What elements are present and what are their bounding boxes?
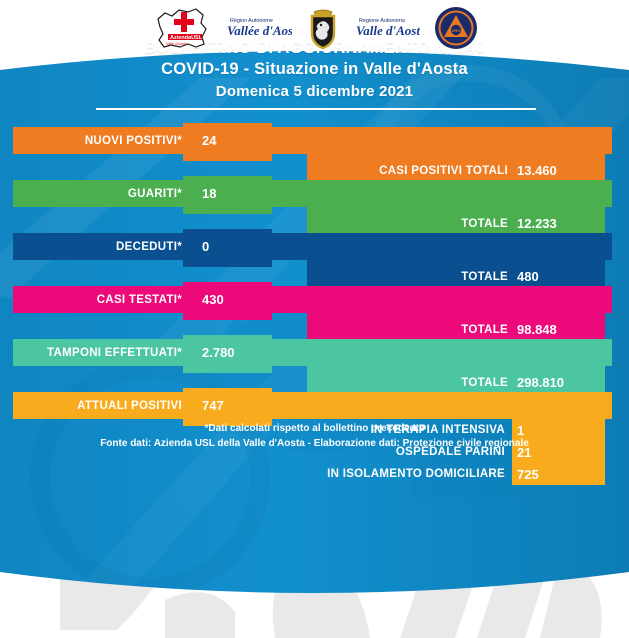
header-line-3: Domenica 5 dicembre 2021 [0,80,629,103]
stat-label: ATTUALI POSITIVI [77,392,182,419]
svg-text:Vallée d'Aoste: Vallée d'Aoste [227,23,292,38]
svg-text:Valle d'Aosta: Valle d'Aosta [356,23,420,38]
stat-row-nuovi-positivi: NUOVI POSITIVI* 24 CASI POSITIVI TOTALI … [0,127,629,180]
stat-value: 2.780 [202,339,235,366]
value-block [183,229,272,267]
stat-value: 24 [202,127,216,154]
breakdown-value-isolamento-domiciliare: 725 [517,463,607,485]
value-block [183,176,272,214]
logo-azienda-usl: AziendaUSL Valle d'Aosta [152,5,212,51]
main-bar [13,180,612,207]
stat-value: 18 [202,180,216,207]
header-line-2: COVID-19 - Situazione in Valle d'Aosta [0,59,629,80]
stat-row-casi-testati: CASI TESTATI* 430 TOTALE 98.848 [0,286,629,339]
logo-regione-autonoma-valle-daosta: Regione Autonoma Valle d'Aosta [354,5,420,51]
footnote: *Dati calcolati rispetto al bollettino p… [0,418,629,439]
logo-protezione-civile: CRO [434,5,478,51]
stat-row-guariti: GUARITI* 18 TOTALE 12.233 [0,180,629,233]
value-block [183,282,272,320]
main-bar [13,233,612,260]
value-block [183,123,272,161]
svg-text:Valle d'Aosta: Valle d'Aosta [166,42,187,46]
svg-text:CRO: CRO [451,28,460,33]
stat-label: CASI TESTATI* [97,286,182,313]
logo-strip: AziendaUSL Valle d'Aosta Région Autonome… [0,0,629,56]
logo-shield-lion [306,5,340,51]
stat-value: 0 [202,233,209,260]
stat-label: GUARITI* [128,180,182,207]
stat-value: 747 [202,392,224,419]
svg-text:AziendaUSL: AziendaUSL [170,35,203,41]
stat-label: NUOVI POSITIVI* [85,127,182,154]
breakdown-label-isolamento-domiciliare: IN ISOLAMENTO DOMICILIARE [180,463,505,485]
stat-row-deceduti: DECEDUTI* 0 TOTALE 480 [0,233,629,286]
stat-row-tamponi-effettuati: TAMPONI EFFETTUATI* 2.780 TOTALE 298.810 [0,339,629,392]
stat-label: DECEDUTI* [116,233,182,260]
data-source: Fonte dati: Azienda USL della Valle d'Ao… [0,438,629,449]
header-divider [96,108,536,110]
stat-value: 430 [202,286,224,313]
logo-region-autonome-vallee-daoste: Région Autonome Vallée d'Aoste [226,5,292,51]
stat-label: TAMPONI EFFETTUATI* [47,339,182,366]
